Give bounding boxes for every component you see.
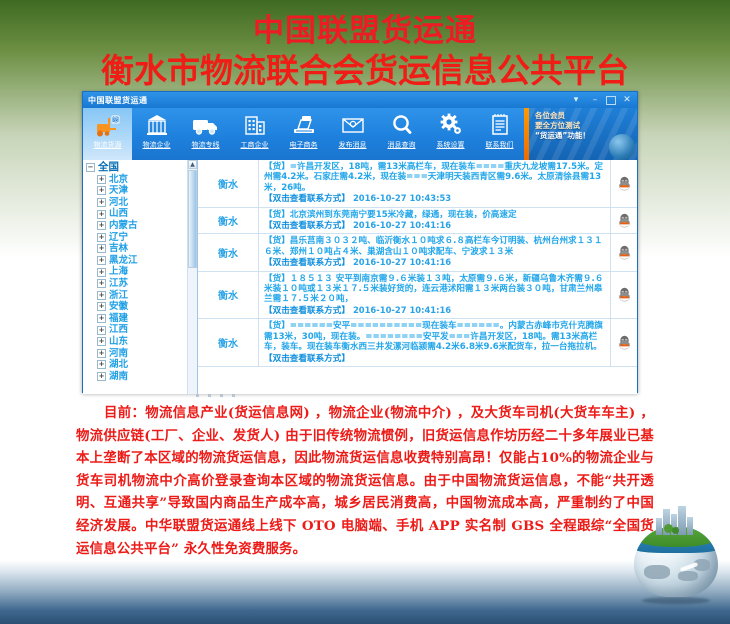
region-tree-panel: − 全国 +北京+天津+河北+山西+内蒙古+辽宁+吉林+黑龙江+上海+江苏+浙江… (83, 160, 198, 394)
announcement-line-1: 各位会员 (535, 111, 637, 121)
dropdown-icon[interactable]: ▾ (568, 94, 584, 106)
row-message-cell[interactable]: 【货】======安平==========现在装车======。内蒙古赤峰市克什… (259, 319, 611, 366)
row-meta-line: 【双击查看联系方式】 2016-10-27 10:43:53 (264, 193, 606, 204)
sidebar-item-16[interactable]: +湖北 (86, 359, 197, 371)
sidebar-item-0[interactable]: +北京 (86, 174, 197, 186)
continent-shape (678, 571, 698, 581)
gear-icon (438, 111, 464, 139)
tree-toggle-icon[interactable]: + (97, 175, 106, 184)
toolbar-item-system-settings[interactable]: 系统设置 (426, 108, 475, 160)
row-message-text: 【货】=许昌开发区，18吨，需13米高栏车，现在装车====重庆九龙坡需17.5… (264, 162, 606, 193)
tree-toggle-icon[interactable]: + (97, 233, 106, 242)
row-action-hint[interactable]: 【双击查看联系方式】 (264, 354, 350, 364)
row-meta-line: 【双击查看联系方式】 2016-10-27 10:41:16 (264, 257, 606, 268)
application-window: 中国联盟货运通 ▾ – ✕ 货 (82, 91, 638, 393)
row-timestamp: 2016-10-27 10:41:16 (353, 220, 451, 230)
tree-toggle-icon[interactable]: + (97, 279, 106, 288)
tree-toggle-icon[interactable]: + (97, 244, 106, 253)
table-row[interactable]: 衡水【货】北京滨州到东莞南宁要15米冷藏，绿通，现在装，价高速定【双击查看联系方… (198, 208, 637, 235)
sidebar-item-nationwide[interactable]: − 全国 (86, 162, 197, 174)
tree-toggle-icon[interactable]: + (97, 372, 106, 381)
row-action-hint[interactable]: 【双击查看联系方式】 (264, 306, 350, 316)
toolbar-item-logistics-line[interactable]: 物流专线 (181, 108, 230, 160)
announcement-line-2: 要全方位测试 (535, 121, 637, 131)
svg-text:货: 货 (112, 116, 118, 124)
row-message-text: 【货】======安平==========现在装车======。内蒙古赤峰市克什… (264, 321, 606, 352)
document-icon (487, 111, 513, 139)
earth-city-illustration (628, 505, 724, 605)
toolbar-item-business-enterprise[interactable]: 工商企业 (230, 108, 279, 160)
sidebar-item-17[interactable]: +湖南 (86, 371, 197, 383)
toolbar-item-message-query[interactable]: 消息查询 (377, 108, 426, 160)
row-timestamp: 2016-10-27 10:41:16 (353, 257, 451, 267)
background-footer-gradient (0, 560, 730, 624)
row-message-cell[interactable]: 【货】=许昌开发区，18吨，需13米高栏车，现在装车====重庆九龙坡需17.5… (259, 160, 611, 207)
sidebar-item-2[interactable]: +河北 (86, 197, 197, 209)
tree-toggle-icon[interactable]: + (97, 256, 106, 265)
globe-ball (634, 527, 718, 597)
sidebar-item-label: 江苏 (109, 278, 128, 290)
minimize-icon[interactable]: – (587, 94, 603, 106)
sidebar-item-label: 山西 (109, 208, 128, 220)
globe-icon (609, 134, 635, 160)
forklift-icon: 货 (94, 111, 122, 139)
row-city: 衡水 (198, 208, 259, 234)
tree-toggle-icon[interactable]: + (97, 210, 106, 219)
row-message-text: 【货】昌乐莒南３０３２吨、临沂衡水１０吨求６.８高栏车今订明装、杭州台州求１３１… (264, 236, 606, 257)
building-icon (144, 111, 170, 139)
sidebar-item-label: 江西 (109, 324, 128, 336)
window-resize-dots (196, 394, 266, 400)
tree-toggle-icon[interactable]: + (97, 349, 106, 358)
window-controls: ▾ – ✕ (568, 92, 635, 108)
scrollbar-thumb[interactable] (188, 170, 197, 268)
row-city: 衡水 (198, 160, 259, 207)
office-icon (242, 111, 268, 139)
toolbar-item-cargo-source[interactable]: 货 物流货源 (83, 108, 132, 160)
row-qq-cell[interactable] (611, 160, 637, 207)
tree-toggle-icon[interactable]: − (86, 163, 95, 172)
main-toolbar: 货 物流货源 物流企业 (83, 108, 637, 160)
poster-title-primary: 中国联盟货运通 (0, 12, 730, 50)
toolbar-label: 消息查询 (388, 140, 416, 150)
continent-shape (644, 565, 670, 579)
row-qq-cell[interactable] (611, 272, 637, 319)
sidebar-item-label: 黑龙江 (109, 255, 138, 267)
row-meta-line: 【双击查看联系方式】 2016-10-27 10:41:16 (264, 220, 606, 231)
sidebar-item-label: 湖南 (109, 371, 128, 383)
poster-titles: 中国联盟货运通 衡水市物流联合会货运信息公共平台 (0, 12, 730, 92)
sidebar-scrollbar[interactable]: ▲ (187, 160, 197, 394)
tree-toggle-icon[interactable]: + (97, 291, 106, 300)
qq-icon[interactable] (618, 335, 631, 350)
row-action-hint[interactable]: 【双击查看联系方式】 (264, 221, 350, 231)
toolbar-item-contact-us[interactable]: 联系我们 (475, 108, 524, 160)
announcement-banner[interactable]: 各位会员 要全方位测试 “货运通”功能！ (529, 108, 637, 160)
row-qq-cell[interactable] (611, 208, 637, 234)
sidebar-item-label: 安徽 (109, 301, 128, 313)
sidebar-item-13[interactable]: +江西 (86, 324, 197, 336)
sidebar-item-12[interactable]: +福建 (86, 313, 197, 325)
sidebar-item-label: 山东 (109, 336, 128, 348)
tree-toggle-icon[interactable]: + (97, 268, 106, 277)
toolbar-item-publish-message[interactable]: 发布消息 (328, 108, 377, 160)
row-qq-cell[interactable] (611, 319, 637, 366)
globe-shadow (642, 597, 710, 604)
sidebar-item-11[interactable]: +安徽 (86, 301, 197, 313)
row-action-hint[interactable]: 【双击查看联系方式】 (264, 194, 350, 204)
search-icon (389, 111, 415, 139)
region-tree-children: +北京+天津+河北+山西+内蒙古+辽宁+吉林+黑龙江+上海+江苏+浙江+安徽+福… (86, 174, 197, 383)
truck-icon (191, 111, 221, 139)
window-body: − 全国 +北京+天津+河北+山西+内蒙古+辽宁+吉林+黑龙江+上海+江苏+浙江… (83, 160, 637, 394)
tree-toggle-icon[interactable]: + (97, 360, 106, 369)
sidebar-item-label: 福建 (109, 313, 128, 325)
row-message-cell[interactable]: 【货】北京滨州到东莞南宁要15米冷藏，绿通，现在装，价高速定【双击查看联系方式】… (259, 208, 611, 234)
toolbar-label: 电子商务 (290, 140, 318, 150)
qq-icon[interactable] (618, 213, 631, 228)
sidebar-item-6[interactable]: +吉林 (86, 243, 197, 255)
row-timestamp: 2016-10-27 10:43:53 (353, 193, 451, 203)
toolbar-item-logistics-company[interactable]: 物流企业 (132, 108, 181, 160)
row-action-hint[interactable]: 【双击查看联系方式】 (264, 258, 350, 268)
row-message-cell[interactable]: 【货】１８５１３ 安平到南京需９.６米装１３吨，太原需９.６米，新疆乌鲁木齐需９… (259, 272, 611, 319)
row-meta-line: 【双击查看联系方式】 (264, 353, 606, 364)
tree-toggle-icon[interactable]: + (97, 326, 106, 335)
sidebar-item-label: 浙江 (109, 290, 128, 302)
toolbar-label: 工商企业 (241, 140, 269, 150)
region-tree: − 全国 +北京+天津+河北+山西+内蒙古+辽宁+吉林+黑龙江+上海+江苏+浙江… (83, 160, 197, 382)
tree-toggle-icon[interactable]: + (97, 337, 106, 346)
sidebar-item-4[interactable]: +内蒙古 (86, 220, 197, 232)
sidebar-item-label: 河北 (109, 197, 128, 209)
toolbar-item-ecommerce[interactable]: 电子商务 (279, 108, 328, 160)
sidebar-item-label: 全国 (98, 162, 119, 174)
toolbar-label: 物流专线 (192, 140, 220, 150)
sidebar-item-label: 湖北 (109, 359, 128, 371)
tree-toggle-icon[interactable]: + (97, 314, 106, 323)
ecommerce-icon (290, 111, 318, 139)
tree-toggle-icon[interactable]: + (97, 198, 106, 207)
table-row[interactable]: 衡水【货】昌乐莒南３０３２吨、临沂衡水１０吨求６.８高栏车今订明装、杭州台州求１… (198, 234, 637, 271)
poster-page: 中国联盟货运通 衡水市物流联合会货运信息公共平台 中国联盟货运通 ▾ – ✕ (0, 0, 730, 624)
cargo-message-list: 衡水【货】=许昌开发区，18吨，需13米高栏车，现在装车====重庆九龙坡需17… (198, 160, 637, 394)
sidebar-item-5[interactable]: +辽宁 (86, 232, 197, 244)
tree-toggle-icon[interactable]: + (97, 186, 106, 195)
row-meta-line: 【双击查看联系方式】 2016-10-27 10:41:16 (264, 305, 606, 316)
sidebar-item-label: 辽宁 (109, 232, 128, 244)
window-title: 中国联盟货运通 (88, 95, 148, 106)
poster-title-secondary: 衡水市物流联合会货运信息公共平台 (0, 50, 730, 92)
qq-icon[interactable] (618, 245, 631, 260)
city-skyline (654, 505, 698, 535)
row-city: 衡水 (198, 234, 259, 270)
toolbar-label: 物流企业 (143, 140, 171, 150)
sidebar-item-1[interactable]: +天津 (86, 185, 197, 197)
sidebar-item-7[interactable]: +黑龙江 (86, 255, 197, 267)
tree-toggle-icon[interactable]: + (97, 221, 106, 230)
sidebar-item-label: 吉林 (109, 243, 128, 255)
sidebar-item-label: 天津 (109, 185, 128, 197)
row-city: 衡水 (198, 319, 259, 366)
tree-toggle-icon[interactable]: + (97, 302, 106, 311)
table-row[interactable]: 衡水【货】１８５１３ 安平到南京需９.６米装１３吨，太原需９.６米，新疆乌鲁木齐… (198, 272, 637, 320)
window-title-bar[interactable]: 中国联盟货运通 ▾ – ✕ (83, 92, 637, 108)
toolbar-label: 物流货源 (94, 140, 122, 150)
qq-icon[interactable] (618, 287, 631, 302)
sidebar-item-15[interactable]: +河南 (86, 348, 197, 360)
row-message-cell[interactable]: 【货】昌乐莒南３０３２吨、临沂衡水１０吨求６.８高栏车今订明装、杭州台州求１３１… (259, 234, 611, 270)
sidebar-item-label: 上海 (109, 266, 128, 278)
close-icon[interactable]: ✕ (619, 94, 635, 106)
sidebar-item-3[interactable]: +山西 (86, 208, 197, 220)
description-paragraph: 目前：物流信息产业(货运信息网) ，物流企业(物流中介) ，及大货车司机(大货车… (76, 402, 654, 560)
sidebar-item-label: 北京 (109, 174, 128, 186)
sidebar-item-10[interactable]: +浙江 (86, 290, 197, 302)
envelope-icon (339, 111, 367, 139)
sidebar-item-9[interactable]: +江苏 (86, 278, 197, 290)
scroll-up-icon[interactable]: ▲ (188, 160, 197, 169)
maximize-icon[interactable] (606, 96, 616, 105)
toolbar-label: 联系我们 (486, 140, 514, 150)
toolbar-label: 系统设置 (437, 140, 465, 150)
qq-icon[interactable] (618, 176, 631, 191)
sidebar-item-14[interactable]: +山东 (86, 336, 197, 348)
sidebar-item-8[interactable]: +上海 (86, 266, 197, 278)
table-row[interactable]: 衡水【货】======安平==========现在装车======。内蒙古赤峰市… (198, 319, 637, 367)
sidebar-item-label: 内蒙古 (109, 220, 138, 232)
toolbar-label: 发布消息 (339, 140, 367, 150)
table-row[interactable]: 衡水【货】=许昌开发区，18吨，需13米高栏车，现在装车====重庆九龙坡需17… (198, 160, 637, 208)
row-qq-cell[interactable] (611, 234, 637, 270)
row-message-text: 【货】北京滨州到东莞南宁要15米冷藏，绿通，现在装，价高速定 (264, 210, 606, 220)
row-timestamp: 2016-10-27 10:41:16 (353, 305, 451, 315)
row-message-text: 【货】１８５１３ 安平到南京需９.６米装１３吨，太原需９.６米，新疆乌鲁木齐需９… (264, 274, 606, 305)
row-city: 衡水 (198, 272, 259, 319)
sidebar-item-label: 河南 (109, 348, 128, 360)
